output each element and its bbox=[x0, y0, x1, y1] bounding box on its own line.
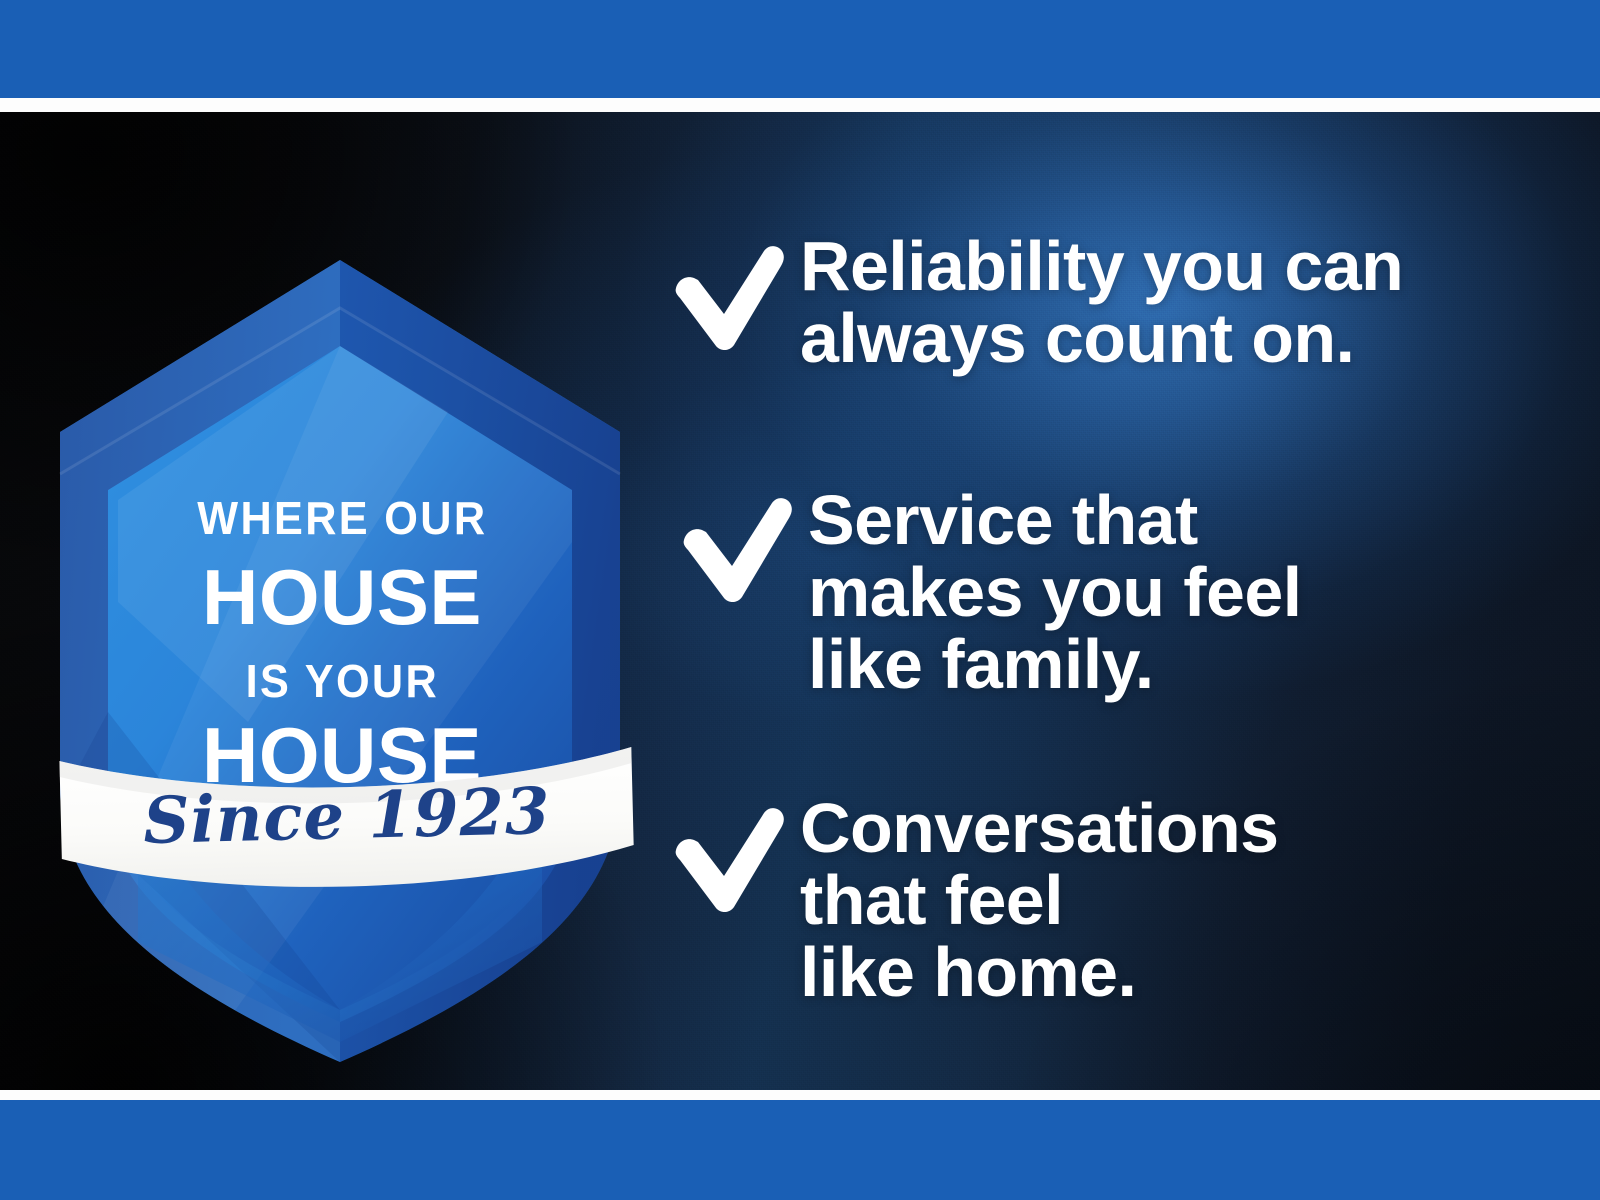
benefit-text-2: Service that makes you feel like family. bbox=[808, 484, 1302, 700]
shield-ribbon-text: Since 1923 bbox=[142, 774, 551, 859]
shield-line-1: WHERE OUR bbox=[197, 494, 487, 544]
benefit-item-1: Reliability you can always count on. bbox=[672, 230, 1403, 374]
benefit-item-2: Service that makes you feel like family. bbox=[680, 484, 1302, 700]
shield-line-2: HOUSE bbox=[202, 553, 482, 641]
checkmark-icon bbox=[672, 230, 800, 352]
checkmark-icon bbox=[680, 484, 808, 604]
checkmark-icon bbox=[672, 792, 800, 914]
top-divider bbox=[0, 98, 1600, 112]
main-canvas: WHERE OUR HOUSE IS YOUR HOUSE Since 1923 bbox=[0, 112, 1600, 1090]
benefit-text-1: Reliability you can always count on. bbox=[800, 230, 1403, 374]
benefit-text-3: Conversations that feel like home. bbox=[800, 792, 1278, 1008]
company-shield-logo: WHERE OUR HOUSE IS YOUR HOUSE Since 1923 bbox=[48, 242, 648, 942]
bottom-brand-bar bbox=[0, 1100, 1600, 1200]
shield-line-3: IS YOUR bbox=[246, 657, 439, 707]
promo-graphic: WHERE OUR HOUSE IS YOUR HOUSE Since 1923 bbox=[0, 0, 1600, 1200]
benefit-item-3: Conversations that feel like home. bbox=[672, 792, 1278, 1008]
top-brand-bar bbox=[0, 0, 1600, 98]
bottom-divider bbox=[0, 1090, 1600, 1100]
